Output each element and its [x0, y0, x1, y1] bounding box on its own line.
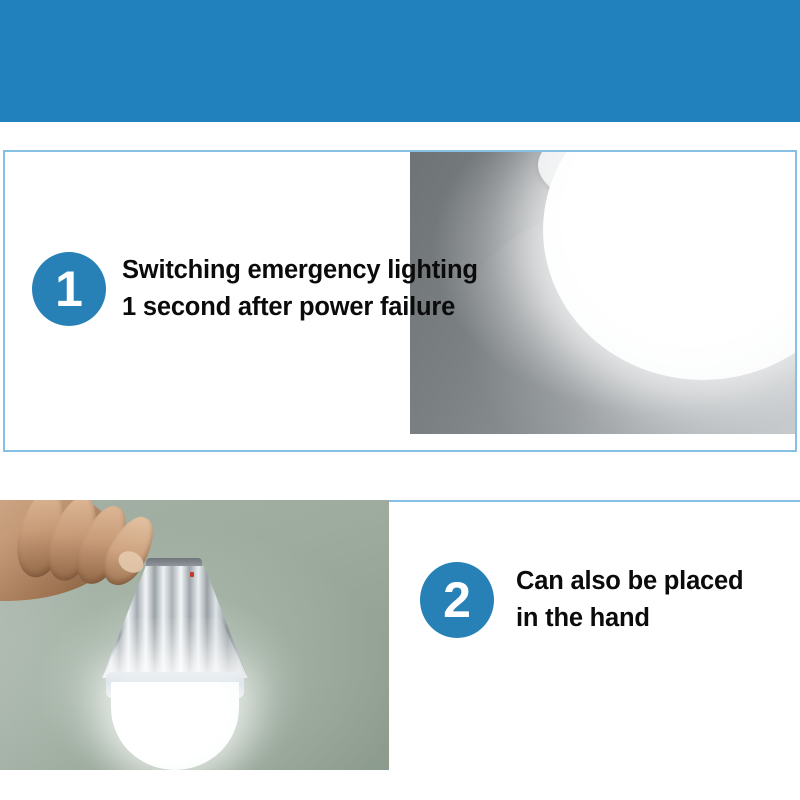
step-2-block: 2 Can also be placed in the hand	[420, 562, 743, 638]
step-1-description: Switching emergency lighting 1 second af…	[122, 252, 478, 326]
step-1-number-label: 1	[55, 264, 83, 314]
feature-panel-2: 2 Can also be placed in the hand	[0, 500, 800, 770]
step-2-number-label: 2	[443, 575, 471, 625]
step-1-number-badge: 1	[32, 252, 106, 326]
bulb-glowing-globe	[111, 682, 239, 770]
feature-panel-1: 1 Switching emergency lighting 1 second …	[3, 150, 797, 452]
step-2-number-badge: 2	[420, 562, 494, 638]
led-bulb-graphic	[102, 558, 248, 770]
bulb-indicator-dot	[190, 572, 194, 577]
step-1-block: 1 Switching emergency lighting 1 second …	[32, 252, 478, 326]
hand-holding-bulb-photo	[0, 500, 389, 770]
step-2-description: Can also be placed in the hand	[516, 563, 743, 637]
top-blue-banner	[0, 0, 800, 122]
